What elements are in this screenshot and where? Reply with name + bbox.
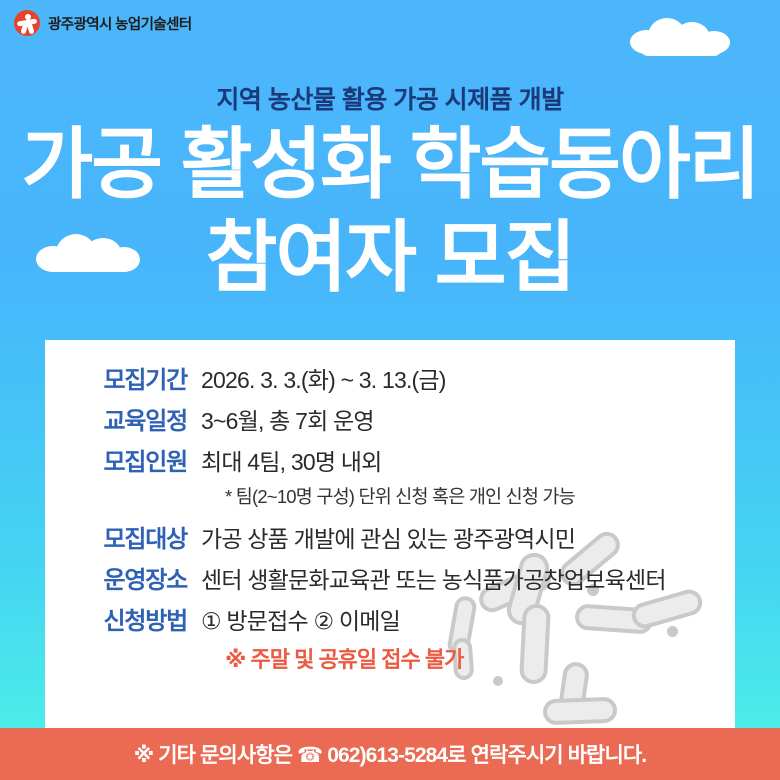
poster-title-line2: 참여자 모집 bbox=[0, 218, 780, 296]
info-row-schedule: 교육일정 3~6월, 총 7회 운영 bbox=[65, 401, 715, 436]
info-label: 신청방법 bbox=[65, 601, 187, 636]
poster-footer: ※ 기타 문의사항은 ☎ 062)613-5284로 연락주시기 바랍니다. bbox=[0, 728, 780, 780]
poster-title-line1: 가공 활성화 학습동아리 bbox=[0, 125, 780, 203]
info-note-row: * 팀(2~10명 구성) 단위 신청 혹은 개인 신청 가능 bbox=[65, 483, 715, 509]
info-value: 최대 4팀, 30명 내외 bbox=[201, 443, 382, 477]
info-value: 2026. 3. 3.(화) ~ 3. 13.(금) bbox=[201, 361, 446, 395]
info-value: 3~6월, 총 7회 운영 bbox=[201, 402, 374, 436]
poster-header: 광주광역시 농업기술센터 bbox=[14, 10, 192, 36]
info-label: 운영장소 bbox=[65, 560, 187, 595]
info-label: 교육일정 bbox=[65, 401, 187, 436]
organization-name: 광주광역시 농업기술센터 bbox=[48, 13, 192, 34]
info-label: 모집인원 bbox=[65, 442, 187, 477]
gwangju-emblem-icon bbox=[14, 10, 40, 36]
poster-root: 광주광역시 농업기술센터 지역 농산물 활용 가공 시제품 개발 가공 활성화 … bbox=[0, 0, 780, 780]
info-row-venue: 운영장소 센터 생활문화교육관 또는 농식품가공창업보육센터 bbox=[65, 560, 715, 595]
info-row-target: 모집대상 가공 상품 개발에 관심 있는 광주광역시민 bbox=[65, 519, 715, 554]
poster-subtitle: 지역 농산물 활용 가공 시제품 개발 bbox=[0, 80, 780, 116]
info-label: 모집기간 bbox=[65, 360, 187, 395]
info-note: * 팀(2~10명 구성) 단위 신청 혹은 개인 신청 가능 bbox=[225, 483, 575, 509]
warning-text: ※ 주말 및 공휴일 접수 불가 bbox=[225, 642, 463, 674]
info-row-capacity: 모집인원 최대 4팀, 30명 내외 bbox=[65, 442, 715, 477]
info-row-apply-method: 신청방법 ① 방문접수 ② 이메일 bbox=[65, 601, 715, 636]
info-row-recruit-period: 모집기간 2026. 3. 3.(화) ~ 3. 13.(금) bbox=[65, 360, 715, 395]
info-value: ① 방문접수 ② 이메일 bbox=[201, 602, 400, 636]
cloud-icon-top-right bbox=[630, 18, 730, 54]
info-value: 센터 생활문화교육관 또는 농식품가공창업보육센터 bbox=[201, 561, 666, 595]
warning-row: ※ 주말 및 공휴일 접수 불가 bbox=[65, 642, 715, 674]
info-value: 가공 상품 개발에 관심 있는 광주광역시민 bbox=[201, 520, 575, 554]
info-card: 모집기간 2026. 3. 3.(화) ~ 3. 13.(금) 교육일정 3~6… bbox=[45, 340, 735, 728]
info-list: 모집기간 2026. 3. 3.(화) ~ 3. 13.(금) 교육일정 3~6… bbox=[65, 360, 715, 674]
info-label: 모집대상 bbox=[65, 519, 187, 554]
footer-contact-text: ※ 기타 문의사항은 ☎ 062)613-5284로 연락주시기 바랍니다. bbox=[134, 739, 646, 769]
